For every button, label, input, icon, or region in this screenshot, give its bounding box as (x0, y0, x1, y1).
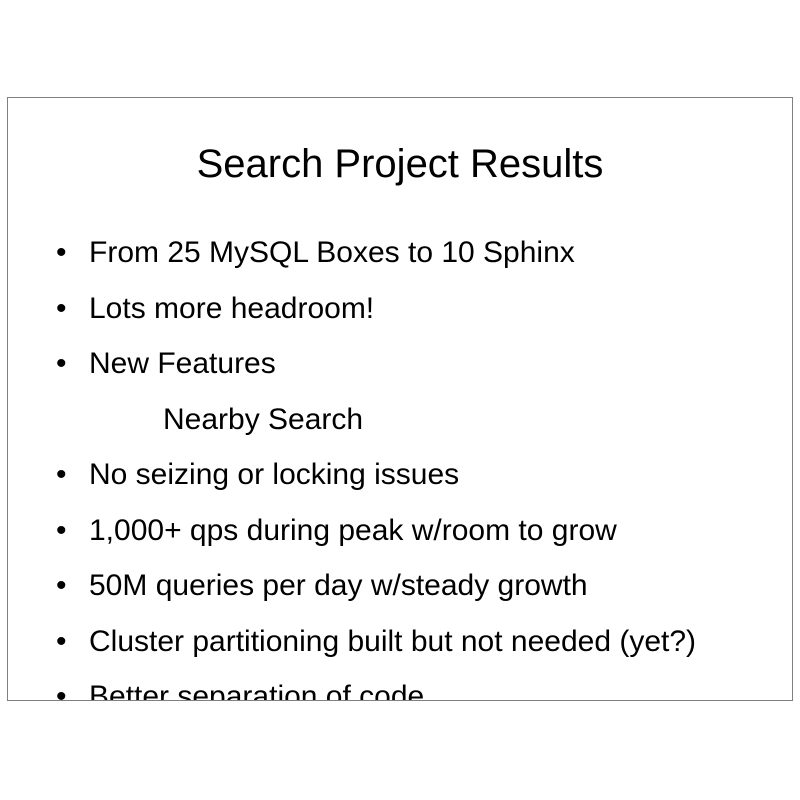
list-item-label: No seizing or locking issues (89, 455, 459, 495)
list-item-label: From 25 MySQL Boxes to 10 Sphinx (89, 233, 575, 273)
list-item-label: 50M queries per day w/steady growth (89, 566, 588, 606)
list-item-label: 1,000+ qps during peak w/room to grow (89, 511, 617, 551)
bullet-point-icon: • (56, 677, 76, 701)
sub-list-item: • Nearby Search (8, 400, 792, 456)
bullet-point-icon: • (56, 233, 76, 273)
page-title: Search Project Results (8, 140, 792, 188)
list-item-label: Cluster partitioning built but not neede… (89, 622, 696, 662)
slide-canvas: Search Project Results • From 25 MySQL B… (0, 0, 800, 800)
list-item: • 1,000+ qps during peak w/room to grow (8, 511, 792, 567)
list-item: • New Features (8, 344, 792, 400)
sub-list-item-label: Nearby Search (163, 400, 363, 440)
list-item-label: Better separation of code (89, 677, 424, 701)
list-item-label: New Features (89, 344, 276, 384)
bullet-point-icon: • (56, 289, 76, 329)
list-item: • Lots more headroom! (8, 289, 792, 345)
list-item: • 50M queries per day w/steady growth (8, 566, 792, 622)
bullet-point-icon: • (56, 344, 76, 384)
list-item: • Cluster partitioning built but not nee… (8, 622, 792, 678)
list-item-label: Lots more headroom! (89, 289, 374, 329)
list-item: • Better separation of code (8, 677, 792, 701)
bullet-point-icon: • (56, 622, 76, 662)
slide-frame: Search Project Results • From 25 MySQL B… (7, 97, 793, 701)
list-item: • From 25 MySQL Boxes to 10 Sphinx (8, 233, 792, 289)
list-item: • No seizing or locking issues (8, 455, 792, 511)
bullet-list: • From 25 MySQL Boxes to 10 Sphinx • Lot… (8, 233, 792, 701)
bullet-point-icon: • (56, 455, 76, 495)
bullet-point-icon: • (56, 566, 76, 606)
bullet-point-icon: • (56, 511, 76, 551)
